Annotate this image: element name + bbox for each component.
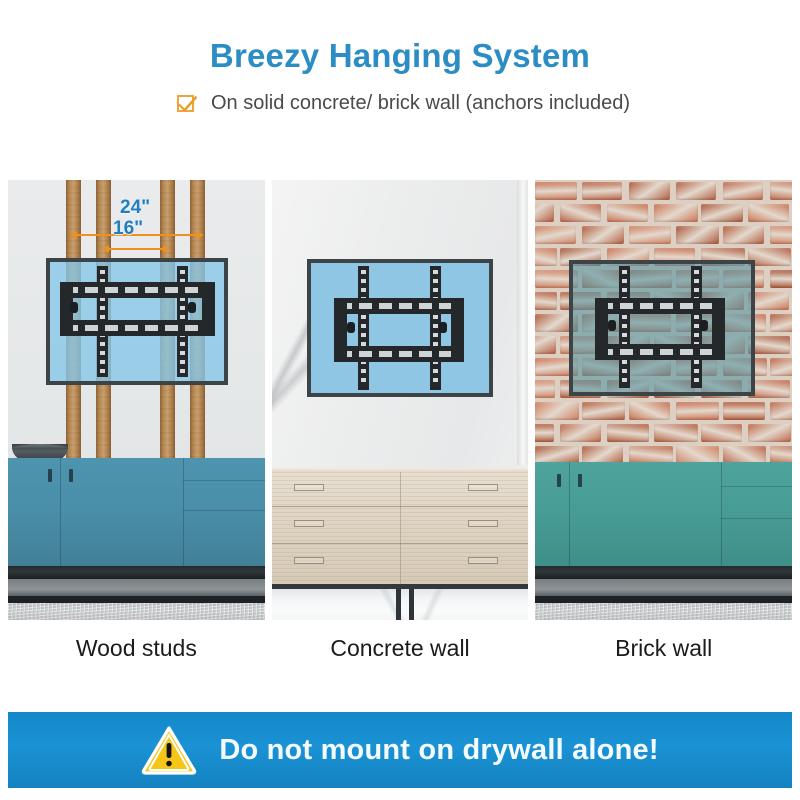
brick (654, 204, 698, 222)
mount-tilt-knob (188, 302, 196, 313)
brick (560, 204, 601, 222)
floor-strip (8, 579, 265, 596)
dresser (272, 472, 529, 584)
cabinet-handle (48, 469, 52, 482)
mount-vertical-rail (358, 266, 369, 390)
brick (676, 182, 716, 200)
brick (535, 248, 557, 266)
dresser-leg (409, 589, 414, 620)
panel-wood-studs: 24" 16" (8, 180, 265, 620)
brick (770, 270, 792, 288)
brick (535, 424, 553, 442)
mount-tilt-knob (439, 322, 447, 333)
caption-concrete-wall: Concrete wall (272, 628, 529, 668)
measurement-line-16 (106, 248, 164, 250)
caption-brick-wall: Brick wall (535, 628, 792, 668)
brick-row (535, 180, 792, 202)
mount-left-side (595, 298, 608, 360)
brick (748, 424, 790, 442)
mount-right-side (712, 298, 725, 360)
dresser-leg (396, 589, 401, 620)
drawer-handle (294, 484, 324, 491)
mount-tilt-knob (347, 322, 355, 333)
cabinet-handle (578, 474, 582, 487)
brick (582, 226, 624, 244)
brick (535, 402, 579, 420)
checkbox-checked-icon (176, 93, 198, 115)
wall-corner (517, 180, 528, 465)
cabinet-handle (69, 469, 73, 482)
warning-triangle-icon (141, 725, 197, 775)
brick (770, 358, 792, 376)
brick (535, 182, 577, 200)
mount-top-bar (595, 298, 725, 314)
drawer-handle (294, 557, 324, 564)
mount-right-side (202, 282, 215, 336)
brick (770, 314, 792, 332)
carpet (535, 603, 792, 620)
mount-vertical-rail (619, 266, 630, 388)
brick (535, 336, 555, 354)
floor-strip (535, 579, 792, 596)
mount-bottom-bar (60, 320, 215, 336)
brick-row (535, 202, 792, 224)
warning-text: Do not mount on drywall alone! (219, 734, 658, 767)
brick (748, 204, 789, 222)
brick (723, 182, 763, 200)
cabinet-plinth (535, 566, 792, 579)
brick (535, 380, 554, 398)
measurement-label-16: 16" (113, 218, 143, 240)
subtitle-text: On solid concrete/ brick wall (anchors i… (211, 92, 630, 115)
mount-top-bar (60, 282, 215, 298)
brick (676, 402, 719, 420)
brick (629, 226, 671, 244)
brick (582, 182, 622, 200)
panel-concrete-wall (272, 180, 529, 620)
brick (701, 424, 742, 442)
arrow-head-right-24 (197, 231, 204, 239)
mount-tilt-knob (70, 302, 78, 313)
brick (607, 204, 648, 222)
brick (770, 226, 792, 244)
cabinet-plinth (8, 566, 265, 579)
mount-tilt-knob (700, 320, 708, 331)
brick (654, 424, 698, 442)
mount-left-side (334, 298, 347, 362)
measurement-label-24: 24" (120, 197, 150, 219)
brick (676, 226, 719, 244)
drawer-handle (468, 484, 498, 491)
arrow-head-left-16 (102, 245, 109, 253)
drawer-handle (294, 520, 324, 527)
brick-row (535, 400, 792, 422)
subtitle-row: On solid concrete/ brick wall (anchors i… (0, 92, 800, 115)
brick (629, 402, 670, 420)
brick (701, 204, 742, 222)
brick (607, 424, 649, 442)
carpet (8, 603, 265, 620)
panel-row: 24" 16" (8, 180, 792, 620)
brick (723, 402, 765, 420)
brick (723, 226, 764, 244)
brick-row (535, 224, 792, 246)
brick (535, 226, 576, 244)
page-title: Breezy Hanging System (0, 38, 800, 74)
mount-tilt-knob (608, 320, 616, 331)
panel-captions: Wood studs Concrete wall Brick wall (8, 628, 792, 668)
mount-bottom-bar (334, 346, 464, 362)
mount-top-bar (334, 298, 464, 314)
header: Breezy Hanging System On solid concrete/… (0, 0, 800, 115)
floor-shadow-line (8, 596, 265, 603)
panel-brick-wall (535, 180, 792, 620)
sideboard-cabinet (535, 462, 792, 566)
brick (770, 182, 792, 200)
brick (535, 204, 554, 222)
cabinet-handle (557, 474, 561, 487)
warning-banner: Do not mount on drywall alone! (8, 712, 792, 788)
brick (629, 182, 670, 200)
arrow-head-right-16 (163, 245, 170, 253)
brick-row (535, 422, 792, 444)
brick (582, 402, 625, 420)
drawer-handle (468, 520, 498, 527)
sideboard-cabinet (8, 458, 265, 566)
drawer-handle (468, 557, 498, 564)
mount-bottom-bar (595, 344, 725, 360)
arrow-head-left-24 (70, 231, 77, 239)
caption-wood-studs: Wood studs (8, 628, 265, 668)
brick (535, 292, 557, 310)
brick (560, 424, 601, 442)
mount-right-side (451, 298, 464, 362)
floor-shadow-line (535, 596, 792, 603)
brick (770, 402, 792, 420)
